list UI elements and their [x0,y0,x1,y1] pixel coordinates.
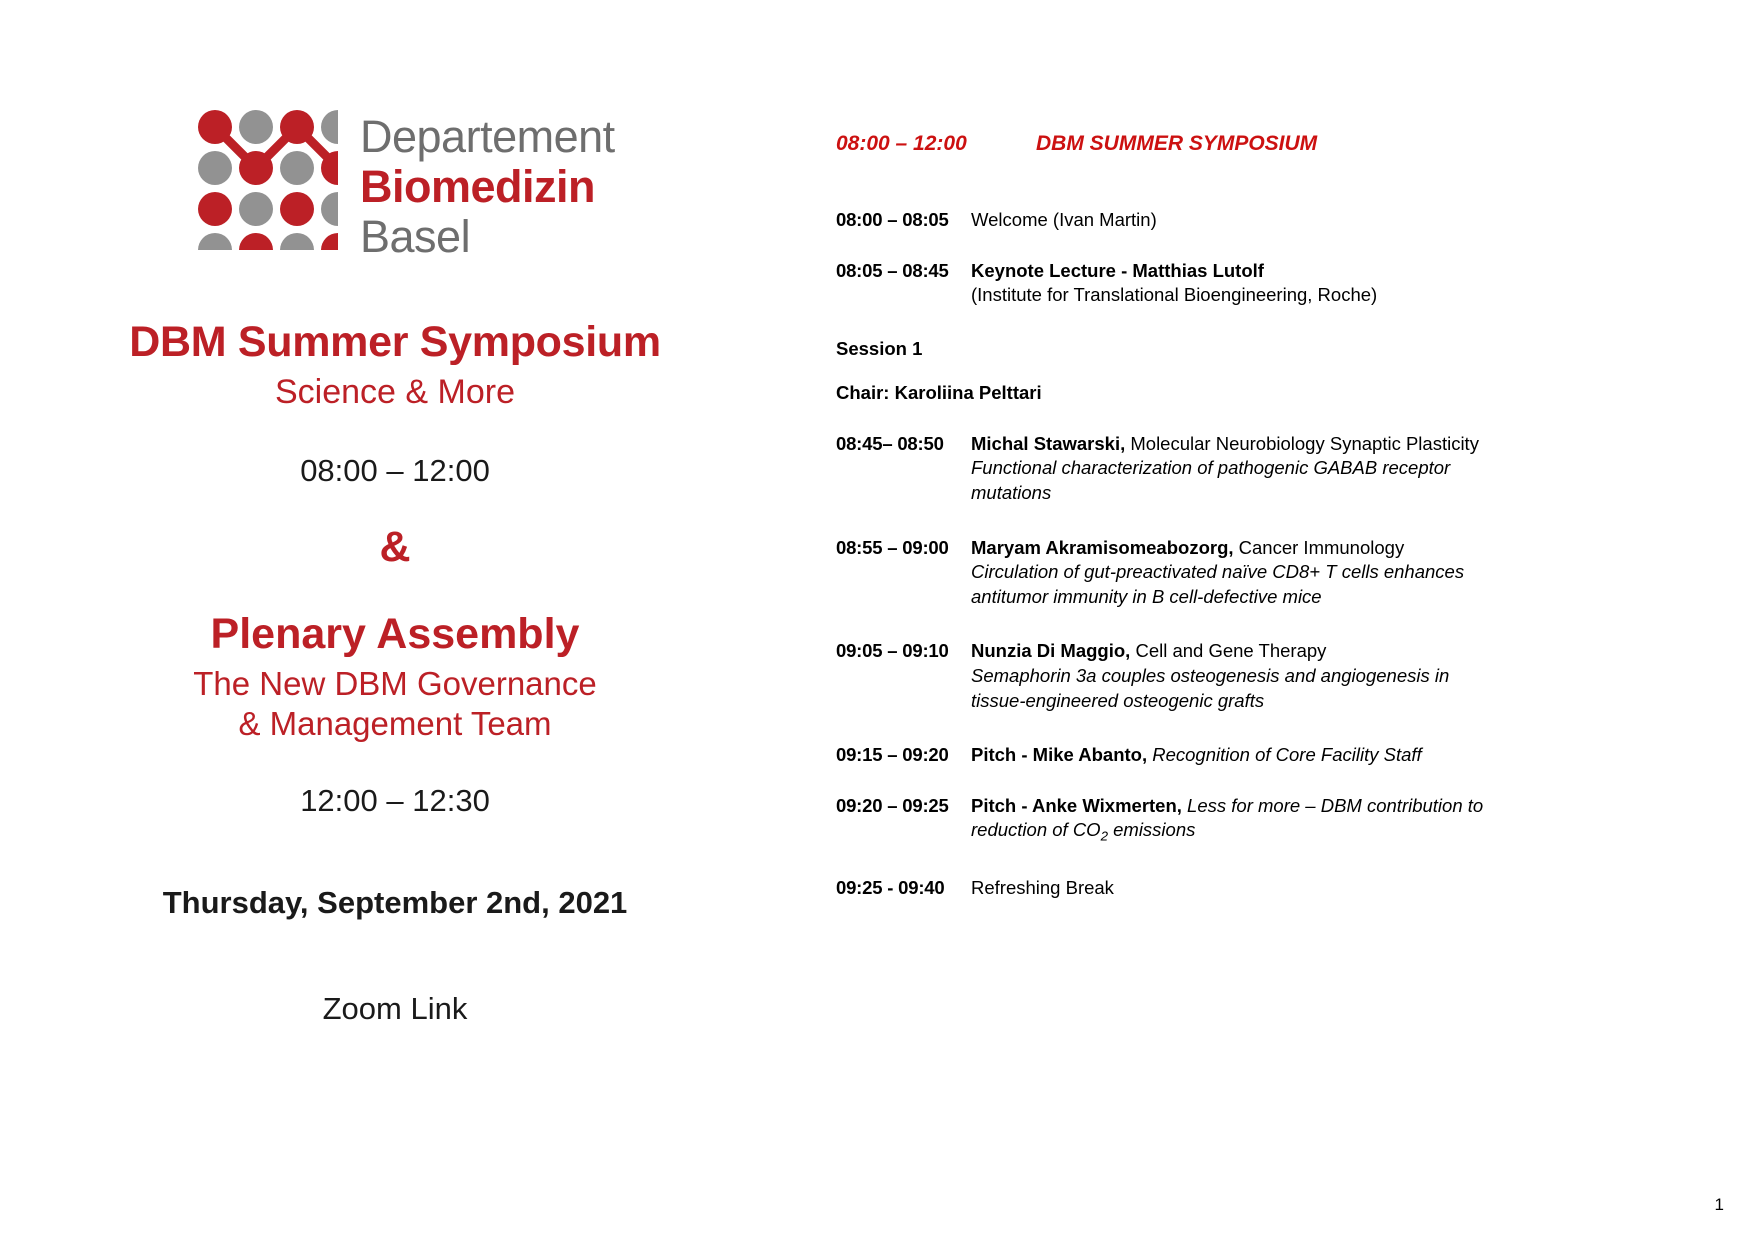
title-block: DBM Summer Symposium Science & More 08:0… [0,318,790,1027]
schedule-row-title: Semaphorin 3a couples osteogenesis and a… [971,664,1516,689]
schedule-row: 09:25 - 09:40 Refreshing Break [836,876,1516,901]
page-subtitle: Science & More [0,372,790,413]
logo-line-departement: Departement [360,114,615,159]
ampersand-separator: & [0,523,790,572]
schedule-row-time: 09:15 – 09:20 [836,743,966,768]
schedule-row-group: Cancer Immunology [1234,537,1405,558]
program-page: Departement Biomedizin Basel DBM Summer … [0,0,1754,1239]
page-number: 1 [1715,1195,1724,1215]
schedule-row-title: Recognition of Core Facility Staff [1147,744,1422,765]
schedule-row-text: Welcome (Ivan Martin) [971,208,1516,233]
schedule-row-title-cont: tissue-engineered osteogenic grafts [971,689,1516,714]
schedule-row: 08:55 – 09:00 Maryam Akramisomeabozorg, … [836,536,1516,610]
schedule-row-title: Less for more – DBM contribution to [1182,795,1483,816]
logo-dot-grid-icon [198,110,338,250]
schedule-row-title-cont: mutations [971,481,1516,506]
plenary-subtitle-line2: & Management Team [238,705,551,742]
schedule-row-title-end: emissions [1108,819,1195,840]
schedule-row-speaker: Michal Stawarski, [971,433,1125,454]
zoom-link[interactable]: Zoom Link [0,991,790,1027]
schedule-row-time: 09:20 – 09:25 [836,794,966,819]
page-title: DBM Summer Symposium [0,318,790,366]
schedule-row-text: Refreshing Break [971,876,1516,901]
schedule-row-title: Functional characterization of pathogeni… [971,456,1516,481]
logo-line-basel: Basel [360,214,615,259]
schedule-row-group: Molecular Neurobiology Synaptic Plastici… [1125,433,1479,454]
dbm-logo: Departement Biomedizin Basel [198,110,615,259]
schedule-row-group: Cell and Gene Therapy [1130,640,1326,661]
schedule-row-title-cont: reduction of CO [971,819,1101,840]
schedule-header: 08:00 – 12:00 DBM SUMMER SYMPOSIUM [836,132,1516,156]
schedule-row-time: 08:45– 08:50 [836,432,966,457]
chair-label: Chair: Karoliina Pelttari [836,382,1516,404]
schedule-row-lead: Keynote Lecture - Matthias Lutolf [971,259,1516,284]
schedule-row-speaker: Pitch - Mike Abanto, [971,744,1147,765]
logo-wordmark: Departement Biomedizin Basel [360,110,615,259]
schedule-row: 09:05 – 09:10 Nunzia Di Maggio, Cell and… [836,639,1516,713]
schedule-row-speaker: Maryam Akramisomeabozorg, [971,537,1234,558]
schedule-row-time: 08:05 – 08:45 [836,259,966,284]
schedule-row: 08:00 – 08:05 Welcome (Ivan Martin) [836,208,1516,233]
schedule-row-time: 09:25 - 09:40 [836,876,966,901]
symposium-time: 08:00 – 12:00 [0,453,790,489]
schedule-row-time: 09:05 – 09:10 [836,639,966,664]
plenary-subtitle-line1: The New DBM Governance [193,665,597,702]
schedule-row: 09:20 – 09:25 Pitch - Anke Wixmerten, Le… [836,794,1516,846]
schedule-header-title: DBM SUMMER SYMPOSIUM [1036,132,1317,156]
schedule-row-time: 08:00 – 08:05 [836,208,966,233]
schedule-row: 08:05 – 08:45 Keynote Lecture - Matthias… [836,259,1516,308]
schedule-row-title-cont: antitumor immunity in B cell-defective m… [971,585,1516,610]
plenary-title: Plenary Assembly [0,610,790,658]
event-date: Thursday, September 2nd, 2021 [0,885,790,921]
schedule-row-time: 08:55 – 09:00 [836,536,966,561]
schedule-column: 08:00 – 12:00 DBM SUMMER SYMPOSIUM 08:00… [836,132,1516,920]
plenary-time: 12:00 – 12:30 [0,783,790,819]
co2-subscript: 2 [1101,829,1108,844]
session-label: Session 1 [836,338,1516,360]
schedule-row: 08:45– 08:50 Michal Stawarski, Molecular… [836,432,1516,506]
schedule-row: 09:15 – 09:20 Pitch - Mike Abanto, Recog… [836,743,1516,768]
logo-line-biomedizin: Biomedizin [360,164,615,209]
left-column: Departement Biomedizin Basel DBM Summer … [0,0,800,1239]
schedule-row-title: Circulation of gut-preactivated naïve CD… [971,560,1516,585]
schedule-row-speaker: Nunzia Di Maggio, [971,640,1130,661]
schedule-row-affiliation: (Institute for Translational Bioengineer… [971,283,1516,308]
schedule-header-time: 08:00 – 12:00 [836,132,1036,156]
schedule-row-speaker: Pitch - Anke Wixmerten, [971,795,1182,816]
